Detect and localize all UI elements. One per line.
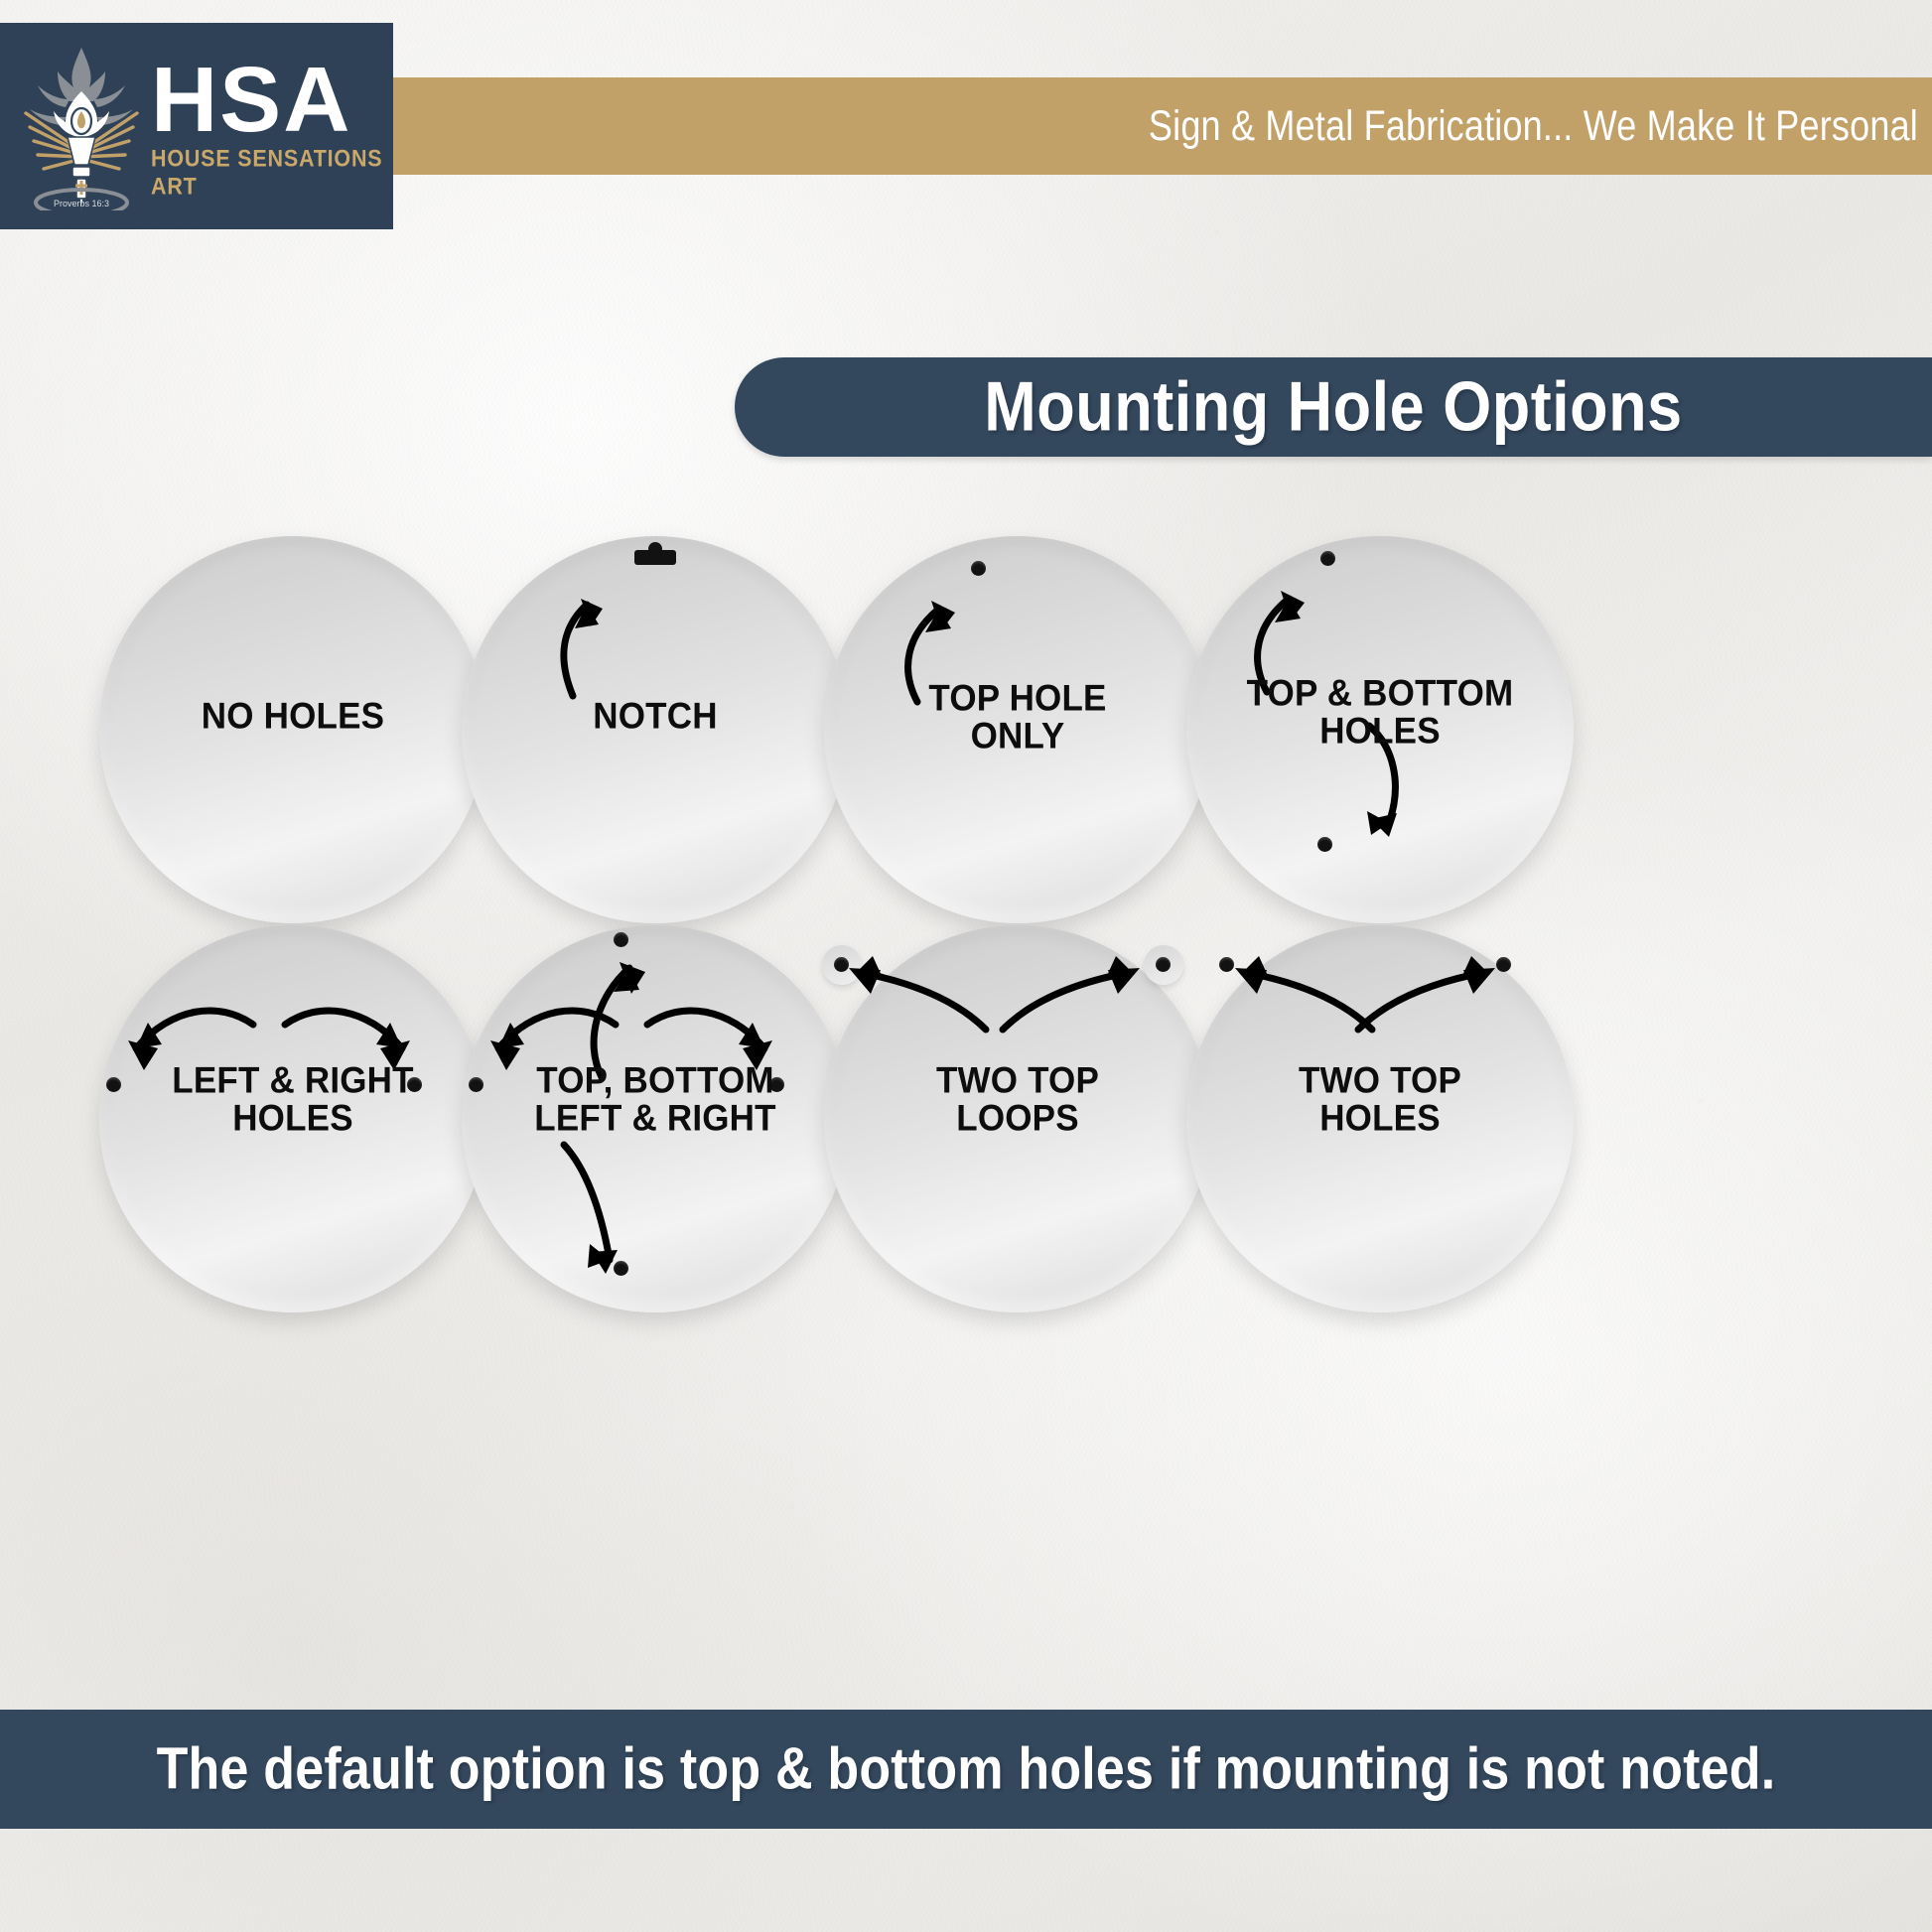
brand-wordmark: HSA HOUSE SENSATIONS ART: [151, 58, 393, 196]
tagline-bar: Sign & Metal Fabrication... We Make It P…: [393, 77, 1932, 175]
option-card-left-and-right-holes[interactable]: LEFT & RIGHT HOLES: [84, 910, 501, 1327]
bottom-hole-icon: [1317, 837, 1332, 852]
tagline-text: Sign & Metal Fabrication... We Make It P…: [1149, 101, 1932, 151]
brand-full-name: HOUSE SENSATIONS ART: [151, 145, 393, 201]
option-card-top-hole-only[interactable]: TOP HOLE ONLY: [809, 521, 1226, 938]
right-loop-hole-icon: [1156, 957, 1171, 972]
option-card-top-bottom-left-right[interactable]: TOP, BOTTOM LEFT & RIGHT: [447, 910, 864, 1327]
right-hole-icon: [769, 1077, 784, 1092]
page-header: Sign & Metal Fabrication... We Make It P…: [0, 23, 1932, 229]
page-title: Mounting Hole Options: [984, 367, 1682, 448]
brand-logo-block: Proverbs 16:3 HSA HOUSE SENSATIONS ART: [0, 23, 393, 229]
sign-disc: [462, 925, 849, 1312]
logo-verse-text: Proverbs 16:3: [54, 199, 109, 208]
left-top-hole-icon: [1219, 957, 1234, 972]
option-card-no-holes[interactable]: NO HOLES: [84, 521, 501, 938]
option-card-two-top-holes[interactable]: TWO TOP HOLES: [1172, 910, 1588, 1327]
top-hole-icon: [971, 561, 986, 576]
left-loop-hole-icon: [834, 957, 849, 972]
option-card-top-and-bottom-holes[interactable]: TOP & BOTTOM HOLES: [1172, 521, 1588, 938]
mounting-options-grid: NO HOLES NOTCH TOP HOLE ONLY: [0, 501, 1932, 1375]
title-banner: Mounting Hole Options: [735, 357, 1932, 457]
brand-initials: HSA: [151, 58, 393, 143]
footer-note-bar: The default option is top & bottom holes…: [0, 1710, 1932, 1829]
option-card-two-top-loops[interactable]: TWO TOP LOOPS: [809, 910, 1226, 1327]
sign-disc: [99, 536, 486, 923]
sign-disc: [1186, 925, 1574, 1312]
sign-disc: [462, 536, 849, 923]
sign-disc: [824, 536, 1211, 923]
notch-cutout-icon: [634, 550, 676, 565]
bottom-hole-icon: [614, 1261, 628, 1276]
footer-note-text: The default option is top & bottom holes…: [157, 1735, 1776, 1803]
right-top-hole-icon: [1496, 957, 1511, 972]
option-card-notch[interactable]: NOTCH: [447, 521, 864, 938]
sign-disc: [824, 925, 1211, 1312]
top-hole-icon: [614, 932, 628, 947]
left-hole-icon: [106, 1077, 121, 1092]
sign-disc: [1186, 536, 1574, 923]
right-hole-icon: [407, 1077, 422, 1092]
hsa-torch-lotus-logo-icon: Proverbs 16:3: [18, 42, 145, 210]
top-hole-icon: [1320, 551, 1335, 566]
sign-disc: [99, 925, 486, 1312]
left-hole-icon: [469, 1077, 483, 1092]
